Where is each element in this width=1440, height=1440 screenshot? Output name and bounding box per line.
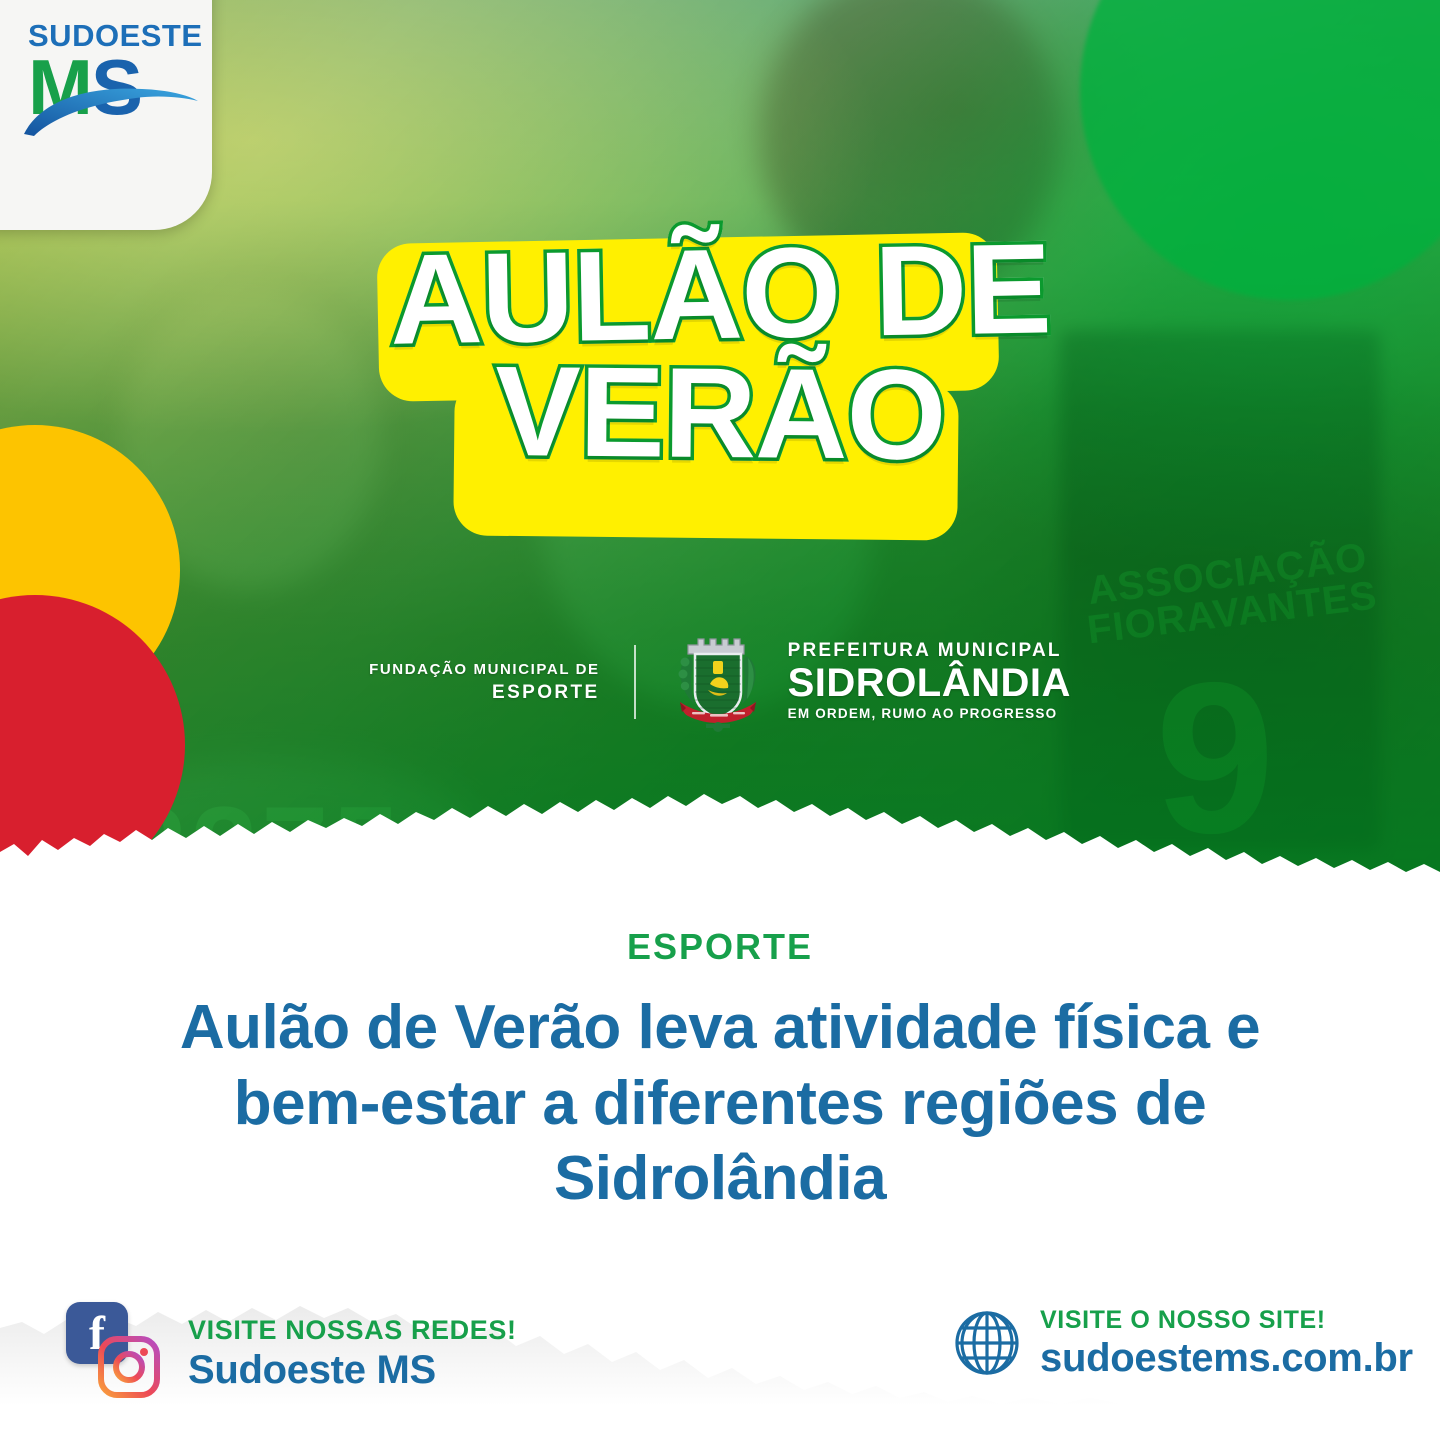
prefeitura-motto: EM ORDEM, RUMO AO PROGRESSO	[788, 703, 1071, 725]
footer: f VISITE NOSSAS REDES! Sud	[0, 1280, 1440, 1440]
foundation-line-2: ESPORTE	[369, 682, 600, 705]
footer-social[interactable]: f VISITE NOSSAS REDES! Sud	[62, 1302, 517, 1406]
globe-icon	[952, 1308, 1022, 1378]
hero-title: AULÃO DE VERÃO	[0, 232, 1440, 477]
brand-badge[interactable]: SUDOESTE MS	[0, 0, 212, 230]
footer-website-text: VISITE O NOSSO SITE! sudoestems.com.br	[1040, 1306, 1413, 1381]
instagram-icon[interactable]	[98, 1336, 160, 1398]
swoosh-icon	[22, 84, 200, 136]
social-handle: Sudoeste MS	[188, 1347, 517, 1393]
title-sticker: AULÃO DE VERÃO	[360, 232, 1080, 477]
title-line-2: VERÃO	[359, 348, 1081, 480]
brand-logo: SUDOESTE MS	[28, 20, 188, 132]
site-url: sudoestems.com.br	[1040, 1335, 1413, 1381]
prefeitura-logo: PREFEITURA MUNICIPAL SIDROLÂNDIA EM ORDE…	[636, 628, 1071, 736]
title-line-2-text: VERÃO	[494, 340, 945, 487]
prefeitura-line-1: PREFEITURA MUNICIPAL	[788, 639, 1071, 663]
foundation-line-1: FUNDAÇÃO MUNICIPAL DE	[369, 659, 600, 682]
torn-paper-edge	[0, 794, 1440, 910]
site-cta: VISITE O NOSSO SITE!	[1040, 1306, 1413, 1335]
social-cta: VISITE NOSSAS REDES!	[188, 1315, 517, 1346]
institutional-logos-row: FUNDAÇÃO MUNICIPAL DE ESPORTE	[0, 628, 1440, 736]
hero-section: ASSOCIAÇÃO FIORAVANTES 9 2275 AULÃO DE V…	[0, 0, 1440, 910]
footer-social-text: VISITE NOSSAS REDES! Sudoeste MS	[188, 1315, 517, 1392]
article-headline: Aulão de Verão leva atividade física e b…	[120, 990, 1320, 1217]
article-kicker: ESPORTE	[0, 926, 1440, 968]
social-icons: f	[62, 1302, 174, 1406]
prefeitura-line-2: SIDROLÂNDIA	[788, 663, 1071, 704]
logo-ms-wrap: MS	[28, 48, 188, 132]
social-media-post: ASSOCIAÇÃO FIORAVANTES 9 2275 AULÃO DE V…	[0, 0, 1440, 1440]
prefeitura-text: PREFEITURA MUNICIPAL SIDROLÂNDIA EM ORDE…	[788, 639, 1071, 725]
foundation-logo: FUNDAÇÃO MUNICIPAL DE ESPORTE	[369, 659, 634, 704]
coat-of-arms-icon	[666, 628, 770, 736]
footer-website[interactable]: VISITE O NOSSO SITE! sudoestems.com.br	[952, 1306, 1413, 1381]
